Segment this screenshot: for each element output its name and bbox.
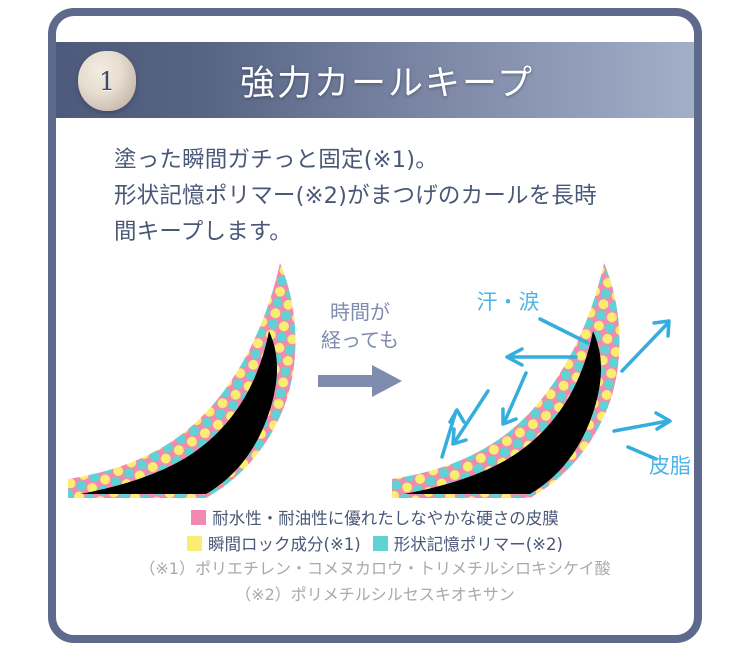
repel-arrow-upper-left — [540, 319, 588, 343]
legend-item-memory: 形状記憶ポリマー(※2) — [373, 531, 563, 555]
legend: 耐水性・耐油性に優れたしなやかな硬さの皮膜 瞬間ロック成分(※1) 形状記憶ポリ… — [56, 504, 694, 556]
callout-sweat-tears: 汗・涙 — [477, 290, 540, 314]
footnote-2: （※2）ポリメチルシルセスキオキサン — [56, 582, 694, 608]
repel-arrow-down-left — [504, 373, 526, 423]
legend-swatch-pink-icon — [191, 510, 206, 525]
body-copy-line-3: 間キープします。 — [114, 214, 654, 250]
time-transition: 時間が 経っても — [318, 300, 402, 397]
legend-swatch-cyan-icon — [373, 536, 388, 551]
feature-card: 1 強力カールキープ 塗った瞬間ガチっと固定(※1)。 形状記憶ポリマー(※2)… — [48, 8, 702, 643]
body-copy-line-1: 塗った瞬間ガチっと固定(※1)。 — [114, 142, 654, 178]
lash-after — [386, 261, 694, 511]
time-arrow-icon — [318, 365, 402, 397]
transition-label-line2: 経っても — [321, 328, 399, 352]
legend-label-film: 耐水性・耐油性に優れたしなやかな硬さの皮膜 — [212, 505, 559, 529]
card-header: 1 強力カールキープ — [56, 42, 694, 118]
lash-before — [56, 261, 356, 511]
body-copy: 塗った瞬間ガチっと固定(※1)。 形状記憶ポリマー(※2)がまつげのカールを長時… — [114, 142, 654, 250]
legend-row-2: 瞬間ロック成分(※1) 形状記憶ポリマー(※2) — [181, 531, 569, 555]
page-title: 強力カールキープ — [56, 42, 694, 118]
body-copy-line-2: 形状記憶ポリマー(※2)がまつげのカールを長時 — [114, 178, 654, 214]
legend-item-film: 耐水性・耐油性に優れたしなやかな硬さの皮膜 — [191, 505, 559, 529]
repel-arrow-up-right — [622, 323, 668, 371]
legend-item-lock: 瞬間ロック成分(※1) — [187, 531, 361, 555]
transition-label-line1: 時間が — [330, 300, 390, 324]
legend-row-1: 耐水性・耐油性に優れたしなやかな硬さの皮膜 — [185, 505, 565, 529]
lash-diagram-svg: 時間が 経っても — [56, 261, 694, 511]
lash-illustration: 時間が 経っても — [56, 261, 694, 511]
legend-label-memory: 形状記憶ポリマー(※2) — [394, 531, 563, 555]
legend-label-lock: 瞬間ロック成分(※1) — [208, 531, 361, 555]
callout-sebum: 皮脂 — [649, 454, 691, 478]
footnote-1: （※1）ポリエチレン・コメヌカロウ・トリメチルシロキシケイ酸 — [56, 556, 694, 582]
footnotes: （※1）ポリエチレン・コメヌカロウ・トリメチルシロキシケイ酸 （※2）ポリメチル… — [56, 556, 694, 608]
infographic-card-stage: 1 強力カールキープ 塗った瞬間ガチっと固定(※1)。 形状記憶ポリマー(※2)… — [0, 0, 750, 651]
legend-swatch-yellow-icon — [187, 536, 202, 551]
